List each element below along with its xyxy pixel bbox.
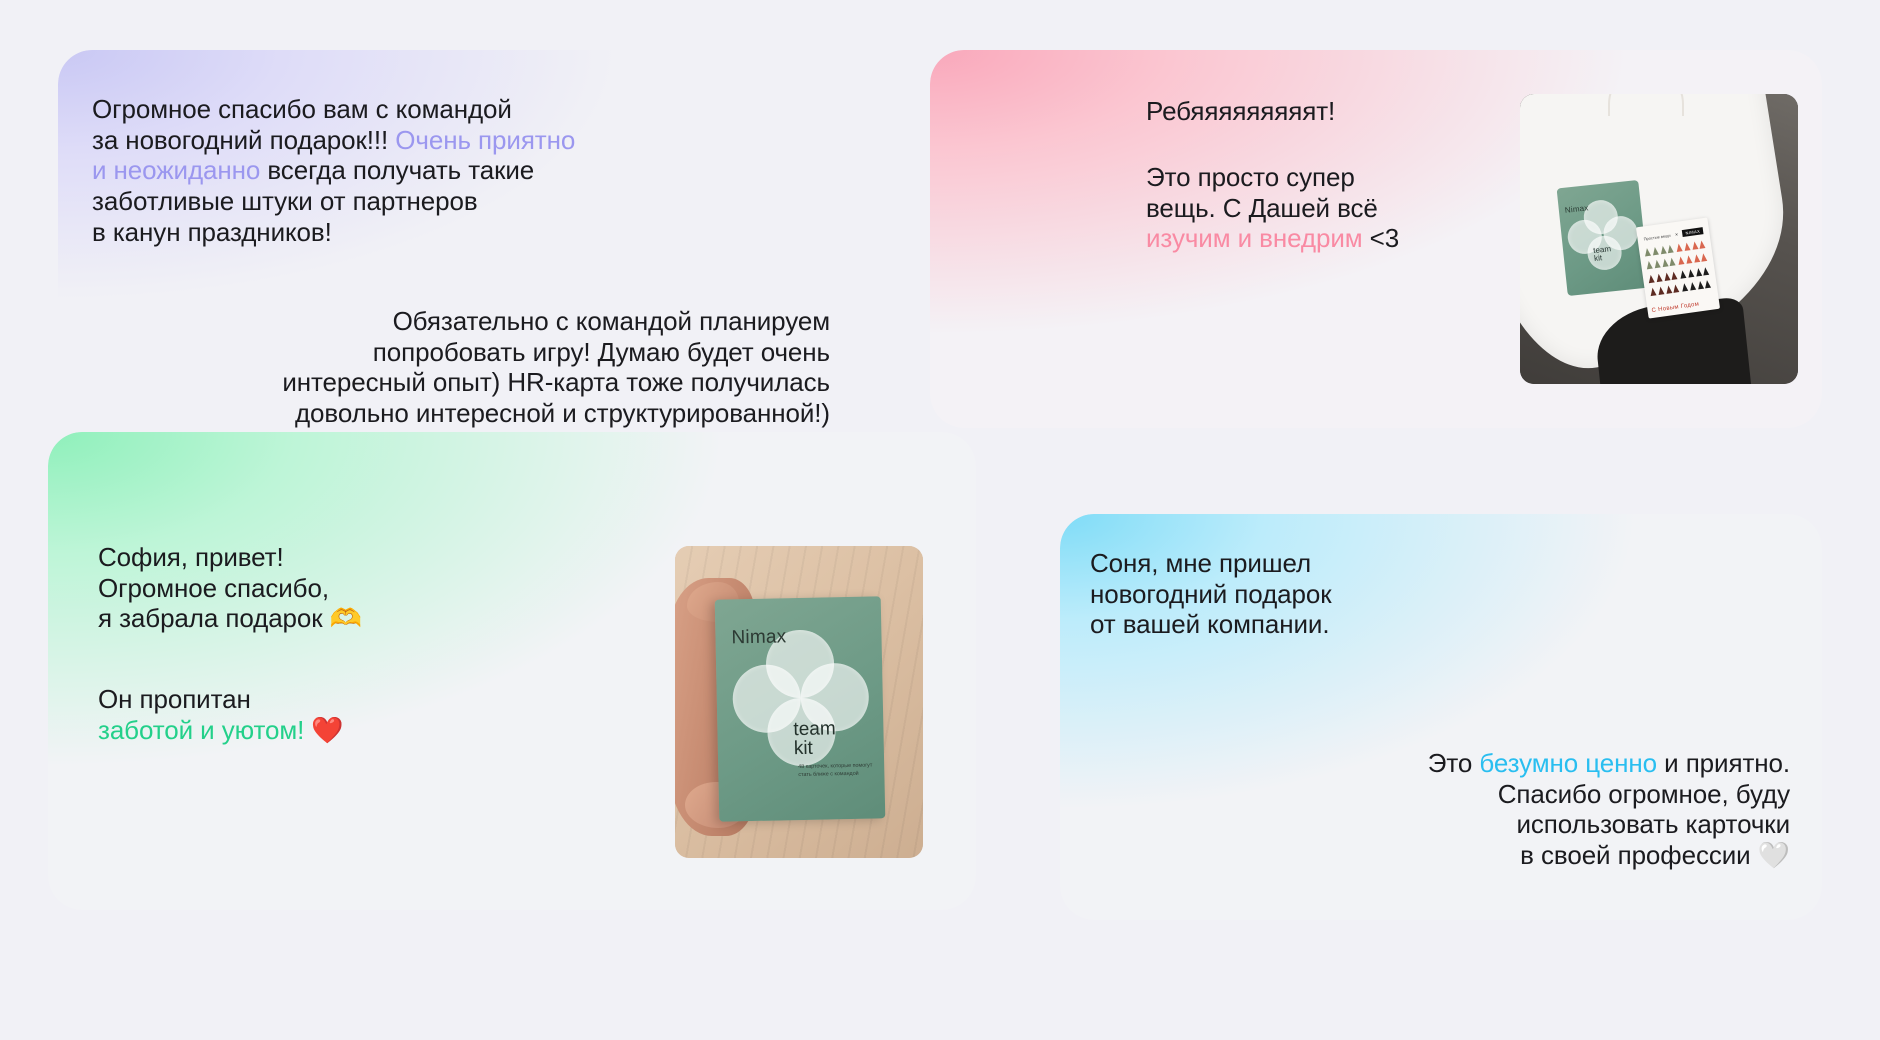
green-msg2-part-b: ❤️ bbox=[304, 715, 343, 745]
blue-msg2-highlight: безумно ценно bbox=[1479, 748, 1657, 778]
photo-hand-holding-kit: Nimax teamkit 48 карточек, которые помог… bbox=[675, 546, 923, 858]
kit-box-title-2: kit bbox=[794, 738, 813, 759]
testimonials-board: Огромное спасибо вам с командой за новог… bbox=[0, 0, 1880, 1040]
blue-msg2-part-a: Это bbox=[1428, 748, 1480, 778]
pink-msg2-part-b: <3 bbox=[1363, 223, 1400, 253]
green-msg2-part-a: Он пропитан bbox=[98, 684, 251, 714]
kit-box-title-2: kit bbox=[1594, 254, 1603, 264]
purple-message-1: Огромное спасибо вам с командой за новог… bbox=[92, 94, 782, 247]
tree-group-red bbox=[1676, 240, 1709, 269]
card-tree-pattern bbox=[1644, 240, 1713, 300]
kit-box-title: teamkit bbox=[793, 719, 836, 759]
bubble-tail-blue bbox=[0, 0, 90, 62]
kit-box-subtitle: 48 карточек, которые помогут стать ближе… bbox=[798, 762, 876, 779]
green-message-1: София, привет! Огромное спасибо, я забра… bbox=[98, 542, 568, 634]
card-cross-icon: ✕ bbox=[1674, 231, 1678, 236]
pink-message-1: Ребяяяяяяяяят! bbox=[1146, 96, 1476, 127]
green-message-2: Он пропитан заботой и уютом! ❤️ bbox=[98, 684, 568, 745]
blue-message-1: Соня, мне пришел новогодний подарок от в… bbox=[1090, 548, 1590, 640]
green-msg2-highlight: заботой и уютом! bbox=[98, 715, 304, 745]
kit-box-brand: Nimax bbox=[731, 626, 786, 649]
photo-kit-box: Nimax teamkit 48 карточек, которые помог… bbox=[715, 596, 886, 821]
photo-gift-on-desk: Nimax teamkit Простые вещи ✕ NIMAX bbox=[1520, 94, 1798, 384]
purple-message-2: Обязательно с командой планируем попробо… bbox=[250, 306, 830, 429]
card-partner-name: Простые вещи bbox=[1643, 232, 1671, 241]
pink-msg2-part-a: Это просто супер вещь. С Дашей всё bbox=[1146, 162, 1378, 223]
card-brand-name: NIMAX bbox=[1682, 227, 1703, 237]
kit-flower-logo bbox=[1557, 180, 1650, 296]
photo-desk-arc bbox=[1608, 94, 1684, 116]
card-greeting-text: С Новым Годом bbox=[1651, 301, 1699, 314]
blue-message-2: Это безумно ценно и приятно. Спасибо огр… bbox=[1190, 748, 1790, 871]
photo-kit-box: Nimax teamkit bbox=[1557, 180, 1650, 296]
pink-message-2: Это просто супер вещь. С Дашей всё изучи… bbox=[1146, 162, 1496, 254]
kit-box-title: teamkit bbox=[1593, 245, 1612, 264]
kit-box-title-1: team bbox=[793, 718, 836, 740]
tree-group-black bbox=[1679, 267, 1712, 296]
tree-group-dark-red bbox=[1648, 271, 1681, 300]
photo-newyear-card: Простые вещи ✕ NIMAX bbox=[1636, 217, 1720, 318]
pink-msg2-highlight: изучим и внедрим bbox=[1146, 223, 1363, 253]
tree-group-olive bbox=[1644, 244, 1677, 273]
